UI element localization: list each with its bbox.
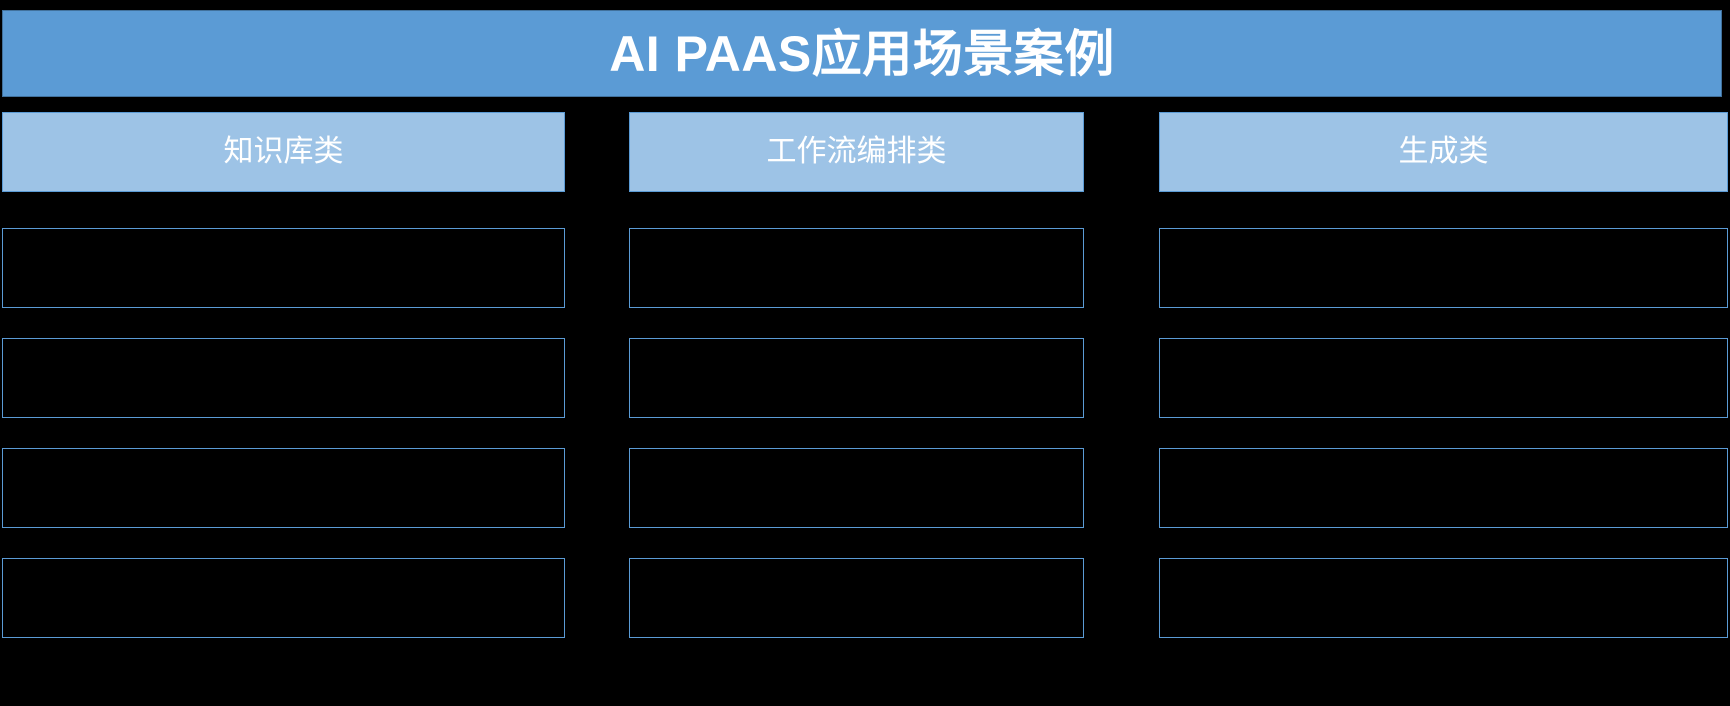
content-cell[interactable] [2,448,565,528]
content-cell[interactable] [2,558,565,638]
column-header-label-1: 知识库类 [224,137,344,167]
page-title: AI PAAS应用场景案例 [609,29,1115,79]
content-cell[interactable] [629,338,1084,418]
content-cell[interactable] [2,338,565,418]
column-header-label-2: 工作流编排类 [767,137,947,167]
column-header-1[interactable]: 知识库类 [2,112,565,192]
column-body-3 [1159,228,1728,668]
category-column-3: 生成类 [1159,112,1728,192]
slide-title-banner: AI PAAS应用场景案例 [2,10,1722,97]
category-column-2: 工作流编排类 [629,112,1084,192]
content-cell[interactable] [1159,228,1728,308]
content-cell[interactable] [2,228,565,308]
content-cell[interactable] [629,228,1084,308]
content-cell[interactable] [1159,558,1728,638]
column-body-2 [629,228,1084,668]
content-cell[interactable] [1159,338,1728,418]
column-header-label-3: 生成类 [1399,137,1489,167]
content-cell[interactable] [1159,448,1728,528]
column-header-3[interactable]: 生成类 [1159,112,1728,192]
column-header-2[interactable]: 工作流编排类 [629,112,1084,192]
content-cell[interactable] [629,558,1084,638]
slide-canvas: AI PAAS应用场景案例 知识库类 工作流编排类 [0,0,1730,706]
column-body-1 [2,228,565,668]
content-cell[interactable] [629,448,1084,528]
category-column-1: 知识库类 [2,112,565,192]
